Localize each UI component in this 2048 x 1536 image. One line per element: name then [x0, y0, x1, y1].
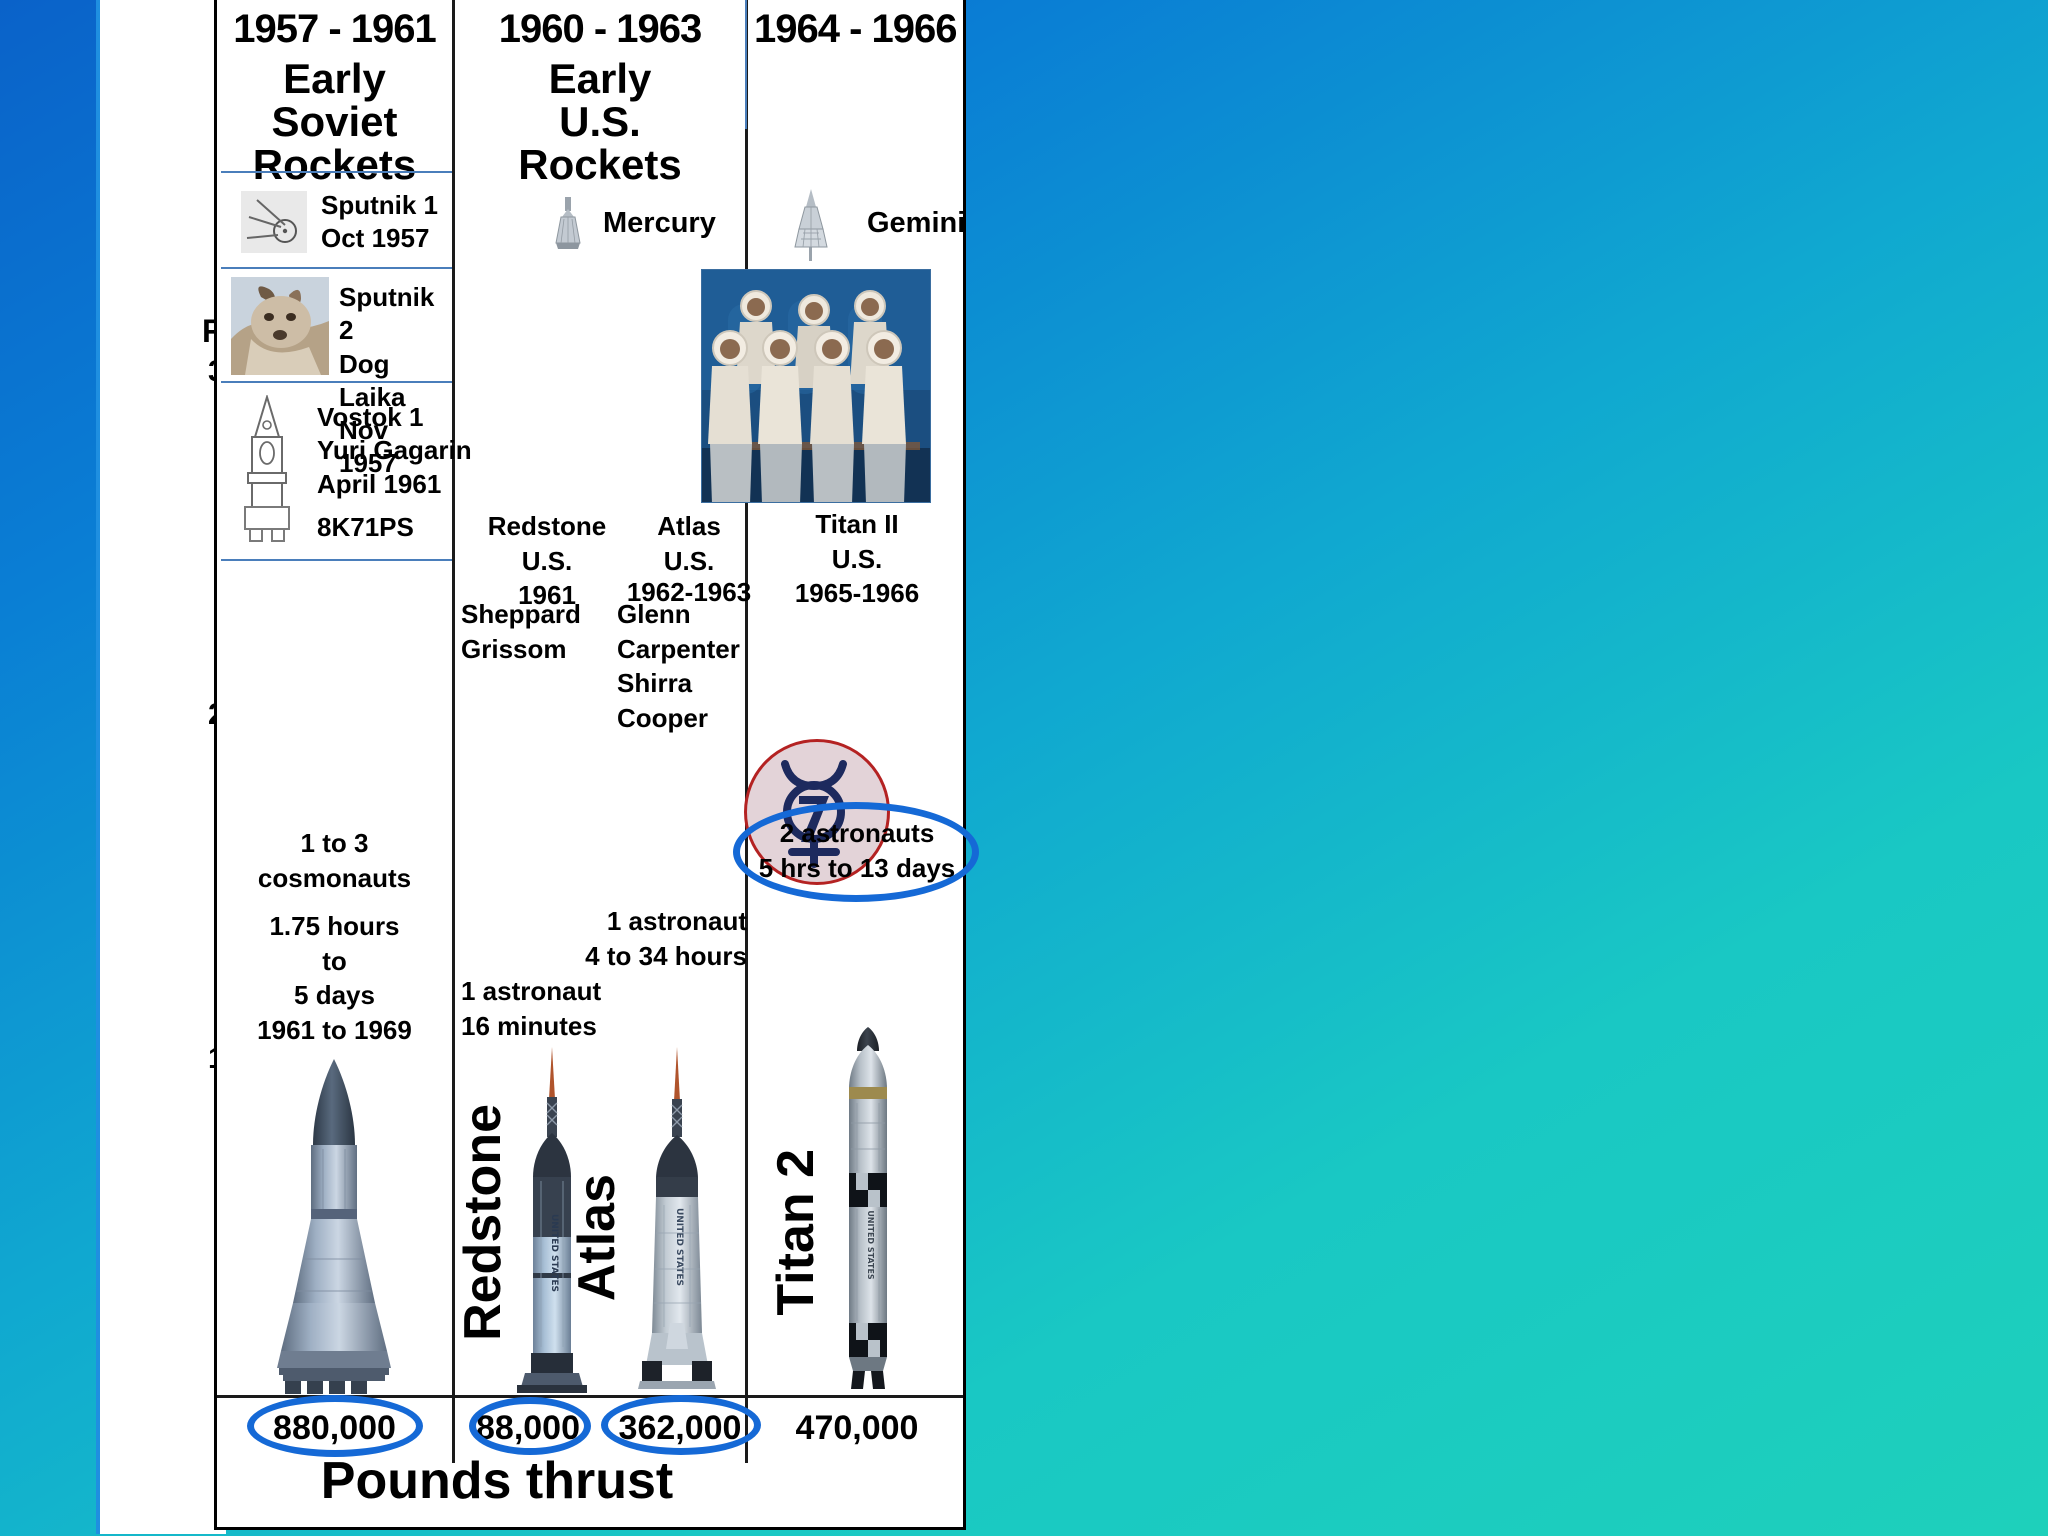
titan-mission-annotation-circle: [733, 802, 979, 902]
atlas-crew-names: Glenn Carpenter Shirra Cooper: [617, 597, 787, 735]
sputnik-satellite-sketch-icon: [241, 191, 307, 253]
column-us-years: 1960 - 1963: [455, 7, 745, 52]
column-separator-2-top: [745, 0, 747, 129]
soviet-duration-line-2: to: [217, 944, 452, 979]
vostok-rocket-sketch-icon: [239, 395, 295, 545]
redstone-duration: 16 minutes: [461, 1009, 681, 1044]
atlas-crew-3: Shirra: [617, 666, 787, 701]
mercury-capsule-svg: [547, 197, 589, 253]
svg-text:UNITED STATES: UNITED STATES: [549, 1214, 559, 1292]
redstone-country: U.S.: [462, 544, 632, 579]
atlas-name: Atlas: [629, 509, 749, 544]
redstone-mission-block: 1 astronaut 16 minutes: [461, 974, 681, 1043]
atlas-duration: 4 to 34 hours: [547, 939, 747, 974]
sputnik-1-name: Sputnik 1: [321, 189, 438, 222]
atlas-rocket-art: UNITED STATES: [622, 1047, 732, 1395]
sputnik-1-date: Oct 1957: [321, 222, 438, 255]
column-us-title-line-3: Rockets: [455, 144, 745, 187]
atlas-info-block: Atlas U.S.: [629, 509, 749, 578]
mercury-capsule-label: Mercury: [603, 207, 716, 240]
svg-text:UNITED STATES: UNITED STATES: [674, 1208, 684, 1286]
column-soviet-title-line-2: Soviet: [217, 101, 452, 144]
titan-dates: 1965-1966: [748, 576, 966, 611]
soviet-duration-block: 1.75 hours to 5 days 1961 to 1969: [217, 909, 452, 1047]
soviet-entry-sputnik-1: Sputnik 1 Oct 1957: [221, 171, 452, 267]
soviet-entry-vostok-1: Vostok 1 Yuri Gagarin April 1961 8K71PS: [221, 381, 452, 561]
soviet-duration-line-1: 1.75 hours: [217, 909, 452, 944]
titan-info-block: Titan II U.S. 1965-1966: [748, 507, 966, 611]
titan-rocket-label: Titan 2: [766, 1149, 826, 1316]
soviet-duration-line-4: 1961 to 1969: [217, 1013, 452, 1048]
gemini-capsule-svg: [785, 189, 837, 261]
redstone-crew-2: Grissom: [461, 632, 641, 667]
soviet-entry-sputnik-1-text: Sputnik 1 Oct 1957: [321, 189, 438, 256]
titan-rocket-svg: UNITED STATES: [825, 1027, 911, 1395]
soviet-r7-rocket-svg: [241, 1059, 427, 1394]
redstone-crew-count: 1 astronaut: [461, 974, 681, 1009]
vostok-1-date: April 1961: [317, 468, 472, 501]
atlas-thrust-annotation-circle: [601, 1395, 761, 1455]
atlas-crew-4: Cooper: [617, 701, 787, 736]
atlas-rocket-svg: UNITED STATES: [622, 1047, 732, 1395]
redstone-rocket-label: Redstone: [453, 1104, 513, 1341]
sputnik-2-name: Sputnik 2: [339, 281, 452, 348]
column-us-title-line-1: Early: [455, 58, 745, 101]
titan-name: Titan II: [748, 507, 966, 542]
vostok-1-designation: 8K71PS: [317, 511, 414, 544]
y-axis: Feet 300 200 100: [96, 0, 226, 1536]
dog-laika-photo: [231, 277, 329, 375]
soviet-duration-line-3: 5 days: [217, 978, 452, 1013]
column-soviet: 1957 - 1961 Early Soviet Rockets: [217, 0, 452, 186]
titan-rocket-art: UNITED STATES: [825, 1027, 911, 1395]
column-gemini-years: 1964 - 1966: [748, 7, 966, 52]
redstone-name: Redstone: [462, 509, 632, 544]
soviet-crew-label: cosmonauts: [217, 861, 452, 896]
column-us-title-line-2: U.S.: [455, 101, 745, 144]
titan-country: U.S.: [748, 542, 966, 577]
dog-laika-svg: [231, 277, 329, 375]
titan-thrust-value: 470,000: [748, 1409, 966, 1448]
gemini-capsule-label: Gemini: [867, 207, 965, 240]
redstone-thrust-annotation-circle: [469, 1397, 591, 1455]
mercury-seven-astronauts-photo: [701, 269, 931, 503]
column-us: 1960 - 1963 Early U.S. Rockets: [455, 0, 745, 186]
soviet-entry-vostok-1-text: Vostok 1 Yuri Gagarin April 1961: [317, 401, 472, 501]
column-gemini: 1964 - 1966: [748, 0, 966, 52]
soviet-crew-block: 1 to 3 cosmonauts: [217, 826, 452, 895]
vostok-1-pilot: Yuri Gagarin: [317, 434, 472, 467]
mercury-seven-astronauts-svg: [702, 270, 930, 502]
atlas-mission-block: 1 astronaut 4 to 34 hours: [547, 904, 747, 973]
gemini-capsule-icon: [785, 189, 837, 261]
atlas-country: U.S.: [629, 544, 749, 579]
rocket-comparison-chart: 1957 - 1961 Early Soviet Rockets Sputnik…: [214, 0, 966, 1530]
svg-text:UNITED STATES: UNITED STATES: [866, 1210, 875, 1280]
vostok-rocket-svg: [239, 395, 295, 545]
soviet-crew-count: 1 to 3: [217, 826, 452, 861]
mercury-capsule-icon: [547, 197, 589, 253]
atlas-crew-2: Carpenter: [617, 632, 787, 667]
vostok-1-name: Vostok 1: [317, 401, 472, 434]
sputnik-satellite-svg: [241, 191, 307, 253]
column-soviet-years: 1957 - 1961: [217, 7, 452, 52]
pounds-thrust-axis-label: Pounds thrust: [217, 1451, 777, 1511]
soviet-r7-rocket-art: [241, 1059, 427, 1394]
atlas-rocket-label: Atlas: [567, 1174, 627, 1301]
atlas-crew-count: 1 astronaut: [547, 904, 747, 939]
column-soviet-title-line-1: Early: [217, 58, 452, 101]
soviet-thrust-annotation-circle: [247, 1395, 423, 1457]
soviet-entry-sputnik-2: Sputnik 2 Dog Laika Nov 1957: [221, 267, 452, 381]
